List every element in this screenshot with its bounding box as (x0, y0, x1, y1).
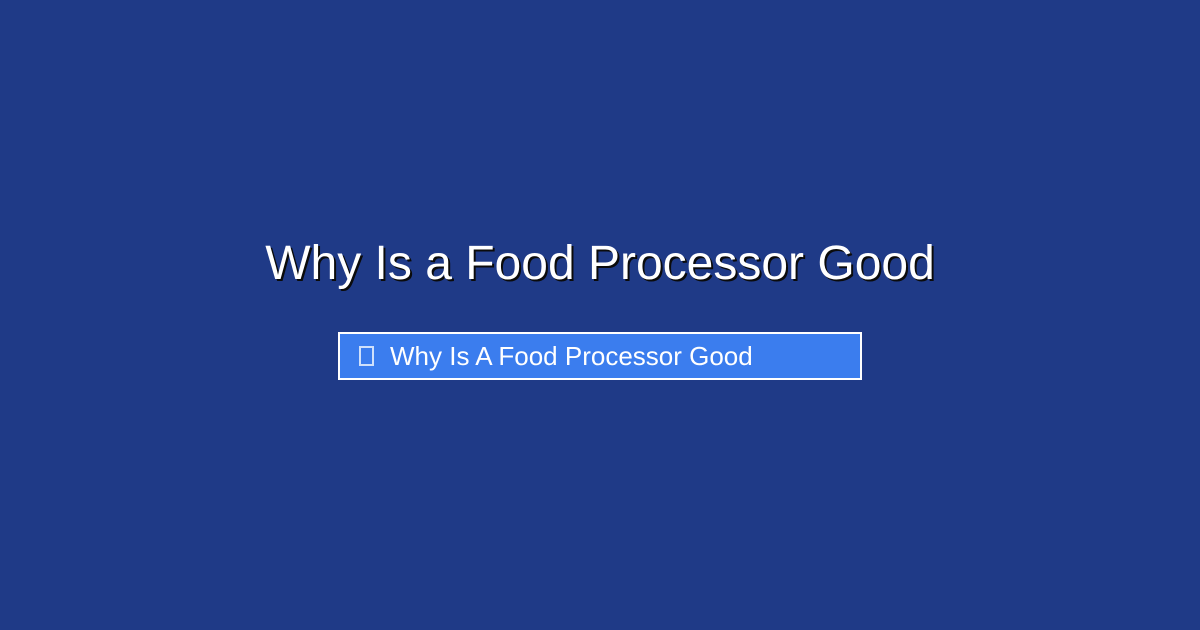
missing-glyph-box-icon (359, 346, 374, 366)
page-title: Why Is a Food Processor Good (245, 240, 955, 288)
cta-button-label: Why Is A Food Processor Good (390, 343, 753, 369)
hero-content-stack: Why Is a Food Processor Good Why Is A Fo… (0, 240, 1200, 380)
cta-link-button[interactable]: Why Is A Food Processor Good (338, 332, 862, 380)
page-canvas: Why Is a Food Processor Good Why Is A Fo… (0, 0, 1200, 630)
cta-container: Why Is A Food Processor Good (0, 332, 1200, 380)
